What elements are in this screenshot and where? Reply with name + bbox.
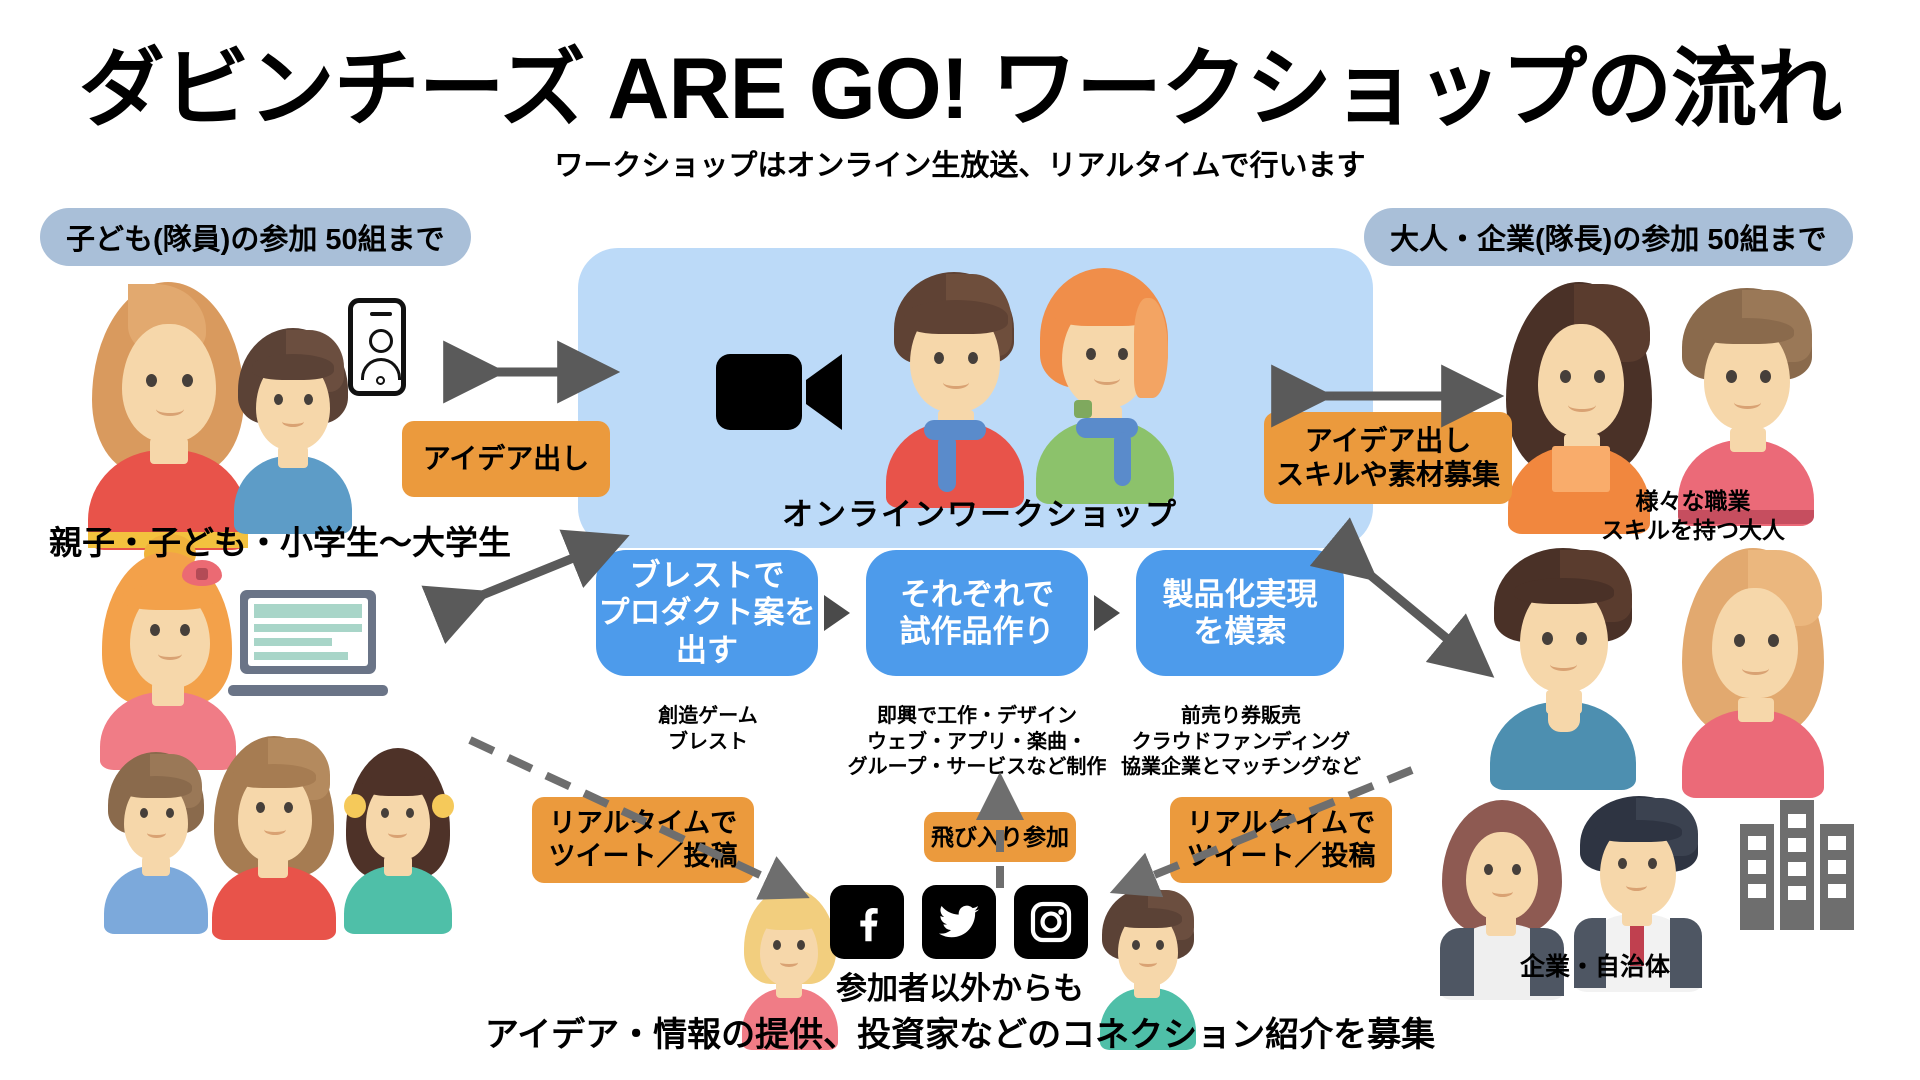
caption-adults-line2: スキルを持つ大人 — [1548, 516, 1838, 545]
arrow-flow-to-adults — [1352, 560, 1468, 656]
caption-kids: 親子・子ども・小学生〜大学生 — [10, 522, 550, 563]
caption-adults-line1: 様々な職業 — [1548, 487, 1838, 516]
instagram-icon[interactable] — [1014, 885, 1088, 959]
arrow-dashed-left-social — [470, 740, 788, 888]
caption-outsiders: 参加者以外からも — [660, 970, 1260, 1009]
caption-corporate: 企業・自治体 — [1430, 952, 1760, 983]
facebook-icon[interactable] — [830, 885, 904, 959]
caption-bottom-appeal: アイデア・情報の提供、投資家などのコネクション紹介を募集 — [360, 1014, 1560, 1057]
twitter-icon[interactable] — [922, 885, 996, 959]
caption-adults: 様々な職業 スキルを持つ大人 — [1548, 487, 1838, 545]
arrow-dashed-right-social — [1132, 770, 1412, 884]
infographic-canvas: ダビンチーズ ARE GO! ワークショップの流れ ワークショップはオンライン生… — [0, 0, 1920, 1080]
